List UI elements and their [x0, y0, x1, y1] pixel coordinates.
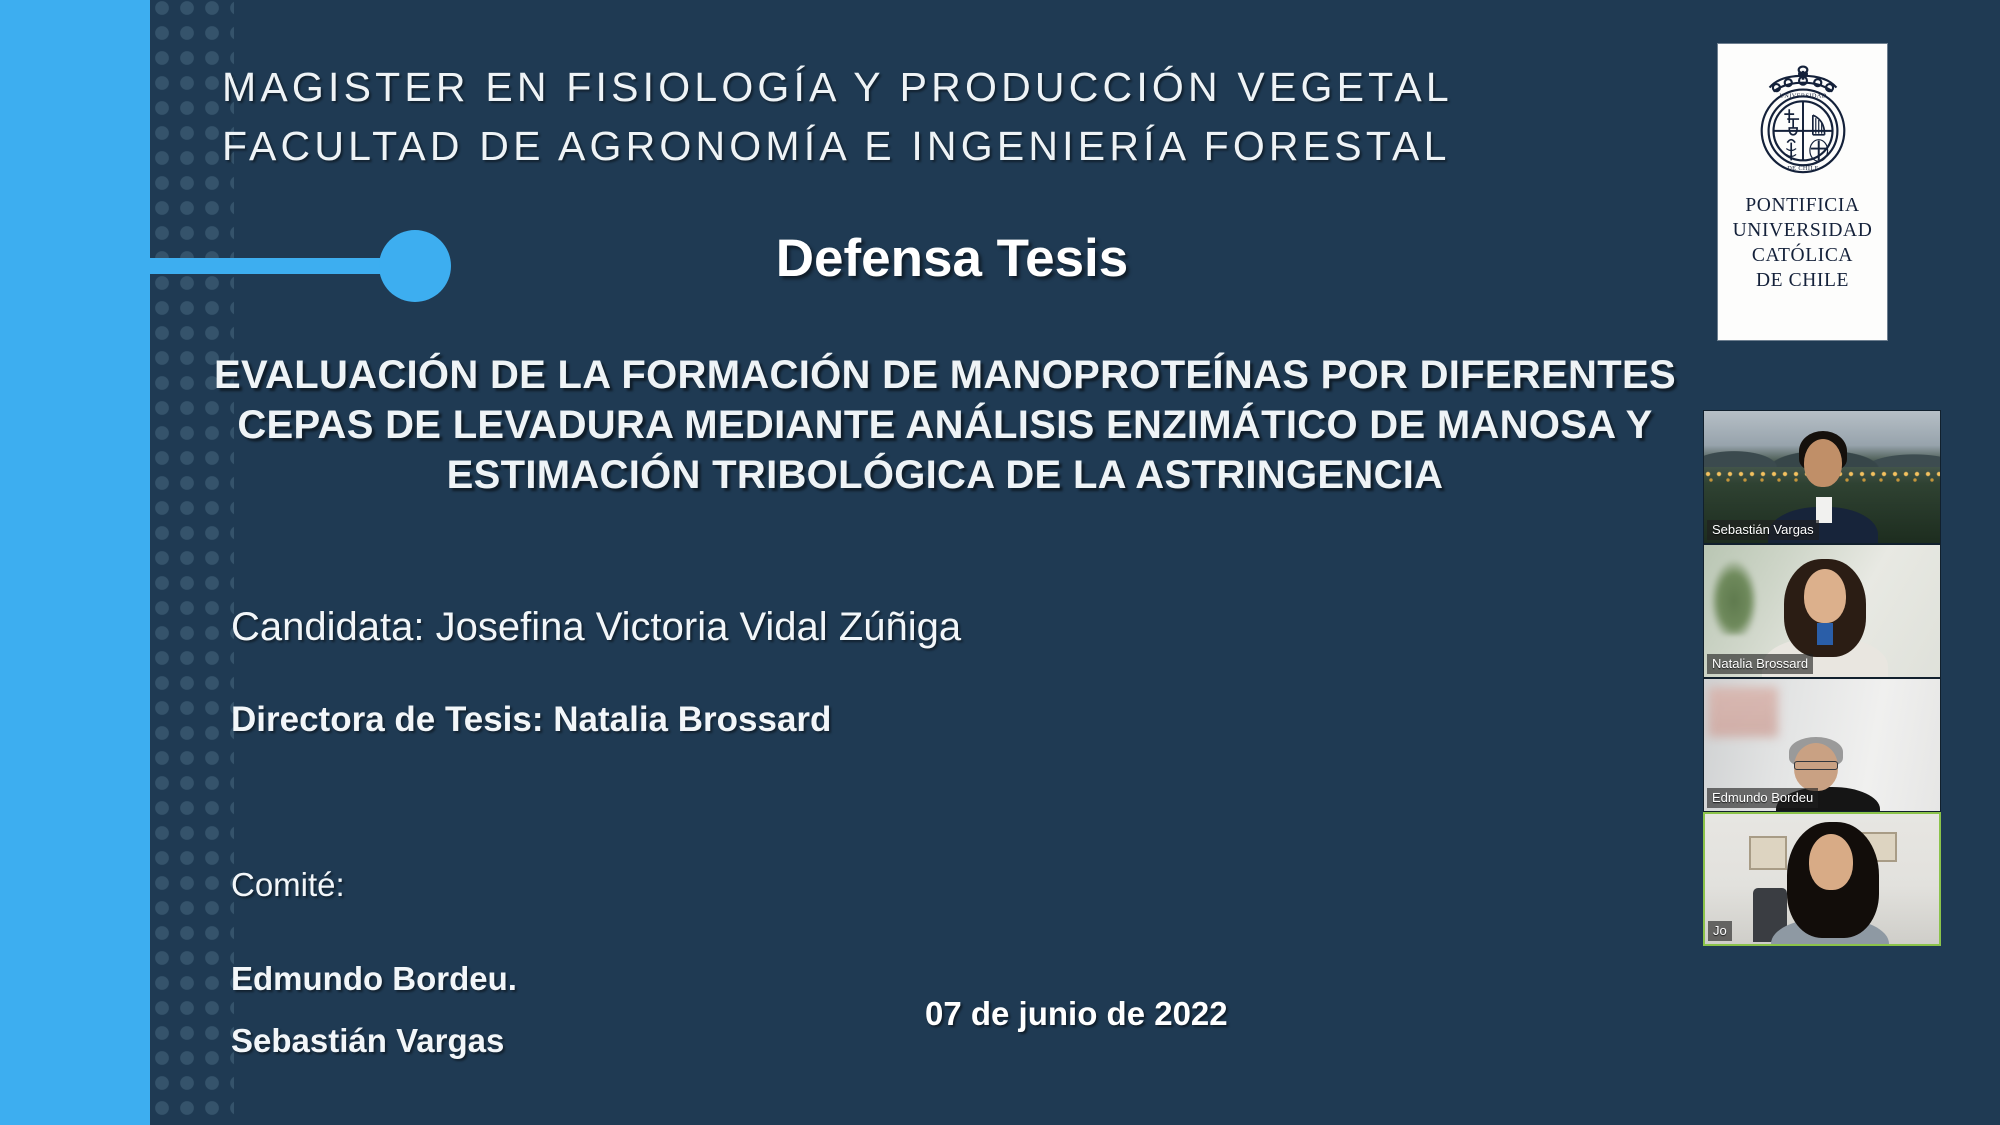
- committee-label: Comité:: [231, 866, 345, 904]
- logo-line-2: UNIVERSIDAD: [1733, 218, 1873, 243]
- video-feed: [1705, 814, 1939, 944]
- event-title: Defensa Tesis: [222, 228, 1682, 289]
- participant-name: Edmundo Bordeu: [1707, 788, 1818, 808]
- puc-crest-icon: UNIVERSIDAD DE CHILE: [1744, 58, 1862, 186]
- logo-wordmark: PONTIFICIA UNIVERSIDAD CATÓLICA DE CHILE: [1733, 193, 1873, 293]
- director-line: Directora de Tesis: Natalia Brossard: [231, 700, 831, 740]
- video-tile[interactable]: Natalia Brossard: [1703, 544, 1941, 678]
- video-tile-active-speaker[interactable]: Jo: [1703, 812, 1941, 946]
- participant-name: Sebastián Vargas: [1707, 520, 1819, 540]
- candidate-line: Candidata: Josefina Victoria Vidal Zúñig…: [231, 605, 961, 650]
- logo-line-3: CATÓLICA: [1733, 243, 1873, 268]
- committee-member-1: Edmundo Bordeu.: [231, 960, 517, 998]
- left-accent-bar: [0, 0, 150, 1125]
- program-header-line-2: FACULTAD DE AGRONOMÍA E INGENIERÍA FORES…: [222, 117, 1682, 176]
- video-participants-panel: Sebastián Vargas Natalia Brossard Edmund…: [1703, 410, 1941, 946]
- logo-line-1: PONTIFICIA: [1733, 193, 1873, 218]
- thesis-title: EVALUACIÓN DE LA FORMACIÓN DE MANOPROTEÍ…: [200, 350, 1690, 500]
- participant-name: Natalia Brossard: [1707, 654, 1813, 674]
- svg-text:DE CHILE: DE CHILE: [1787, 165, 1819, 172]
- participant-name: Jo: [1708, 921, 1732, 941]
- logo-line-4: DE CHILE: [1733, 268, 1873, 293]
- presentation-slide: MAGISTER EN FISIOLOGÍA Y PRODUCCIÓN VEGE…: [0, 0, 2000, 1125]
- svg-text:UNIVERSIDAD: UNIVERSIDAD: [1779, 92, 1826, 99]
- committee-member-2: Sebastián Vargas: [231, 1022, 504, 1060]
- video-tile[interactable]: Edmundo Bordeu: [1703, 678, 1941, 812]
- program-header-line-1: MAGISTER EN FISIOLOGÍA Y PRODUCCIÓN VEGE…: [222, 58, 1682, 117]
- program-header: MAGISTER EN FISIOLOGÍA Y PRODUCCIÓN VEGE…: [222, 58, 1682, 176]
- video-tile[interactable]: Sebastián Vargas: [1703, 410, 1941, 544]
- university-logo: UNIVERSIDAD DE CHILE PONTIFICIA UNIVERSI…: [1718, 44, 1887, 340]
- defense-date: 07 de junio de 2022: [925, 995, 1228, 1033]
